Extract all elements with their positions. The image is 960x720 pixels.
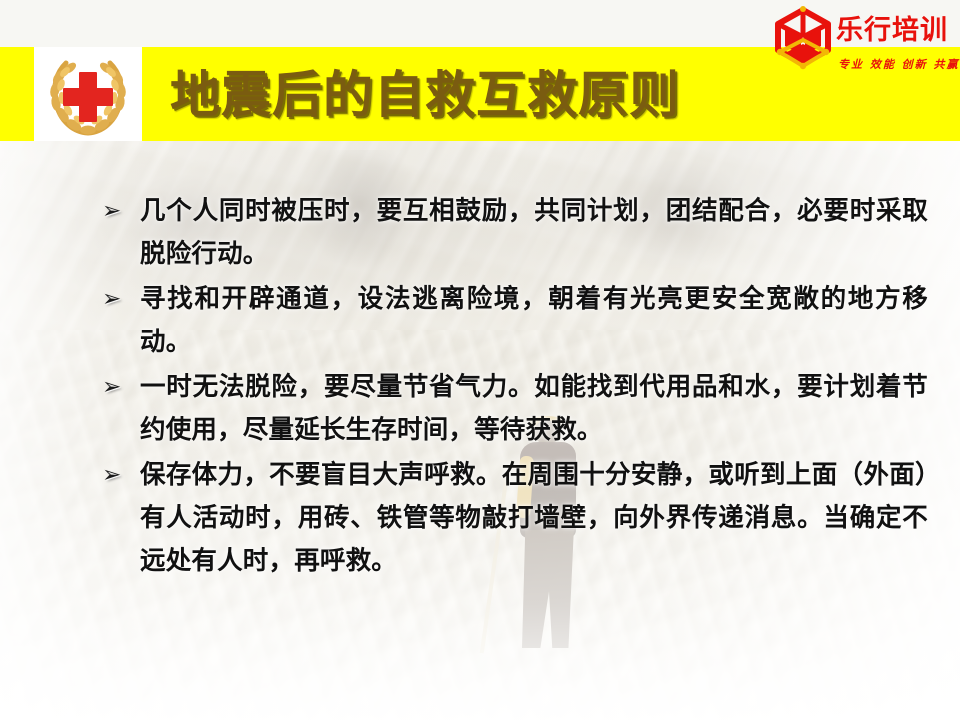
list-item-text: 保存体力，不要盲目大声呼救。在周围十分安静，或听到上面（外面）有人活动时，用砖、… xyxy=(140,460,928,576)
list-item-text: 几个人同时被压时，要互相鼓励，共同计划，团结配合，必要时采取脱险行动。 xyxy=(140,196,928,269)
presentation-slide: 地震后的自救互救原则 xyxy=(0,0,960,720)
page-title: 地震后的自救互救原则 xyxy=(170,54,680,136)
bullet-list: ➢ 几个人同时被压时，要互相鼓励，共同计划，团结配合，必要时采取脱险行动。 ➢ … xyxy=(100,190,928,585)
list-item: ➢ 一时无法脱险，要尽量节省气力。如能找到代用品和水，要计划着节约使用，尽量延长… xyxy=(100,366,928,452)
bullet-arrow-icon: ➢ xyxy=(102,366,132,409)
brand-logo[interactable]: 乐行培训 专业 效能 创新 共赢 xyxy=(772,4,956,84)
red-cross-laurel-icon xyxy=(34,47,142,141)
bullet-arrow-icon: ➢ xyxy=(102,454,132,497)
bullet-arrow-icon: ➢ xyxy=(102,190,132,233)
brand-tagline: 专业 效能 创新 共赢 xyxy=(838,56,960,72)
bullet-arrow-icon: ➢ xyxy=(102,278,132,321)
list-item-text: 一时无法脱险，要尽量节省气力。如能找到代用品和水，要计划着节约使用，尽量延长生存… xyxy=(140,372,928,445)
brand-name: 乐行培训 xyxy=(836,8,948,47)
list-item: ➢ 寻找和开辟通道，设法逃离险境，朝着有光亮更安全宽敞的地方移动。 xyxy=(100,278,928,364)
list-item-text: 寻找和开辟通道，设法逃离险境，朝着有光亮更安全宽敞的地方移动。 xyxy=(140,284,928,357)
list-item: ➢ 几个人同时被压时，要互相鼓励，共同计划，团结配合，必要时采取脱险行动。 xyxy=(100,190,928,276)
red-cross-emblem-container xyxy=(34,47,142,141)
red-cube-logo-icon xyxy=(772,6,834,72)
list-item: ➢ 保存体力，不要盲目大声呼救。在周围十分安静，或听到上面（外面）有人活动时，用… xyxy=(100,454,928,583)
